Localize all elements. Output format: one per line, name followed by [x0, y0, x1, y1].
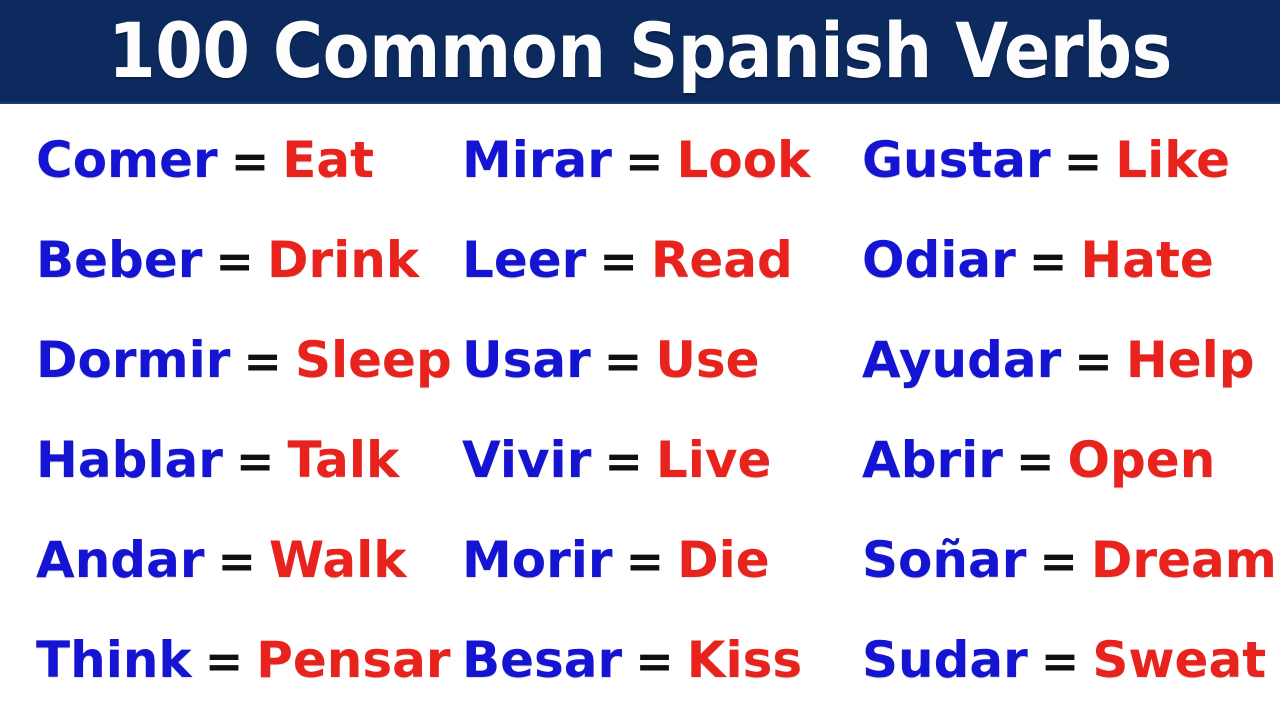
equals-sign: =	[625, 133, 664, 189]
verb-pair: Gustar = Like	[840, 132, 1280, 189]
spanish-term: Andar	[36, 532, 204, 588]
equals-sign: =	[626, 533, 665, 589]
spanish-term: Sudar	[862, 632, 1028, 688]
equals-sign: =	[205, 633, 244, 689]
page-title: 100 Common Spanish Verbs	[108, 11, 1172, 91]
spanish-term: Besar	[462, 632, 622, 688]
equals-sign: =	[1029, 233, 1068, 289]
english-gloss: Sleep	[295, 332, 452, 388]
english-gloss: Use	[655, 332, 759, 388]
spanish-term: Mirar	[462, 132, 612, 188]
english-gloss: Live	[656, 432, 772, 488]
verb-pair: Sudar = Sweat	[840, 632, 1280, 689]
spanish-term: Usar	[462, 332, 591, 388]
spanish-term: Gustar	[862, 132, 1051, 188]
english-gloss: Dream	[1091, 532, 1277, 588]
page-header: 100 Common Spanish Verbs	[0, 0, 1280, 104]
equals-sign: =	[236, 433, 275, 489]
verb-pair: Besar = Kiss	[440, 632, 840, 689]
verb-pair: Abrir = Open	[840, 432, 1280, 489]
equals-sign: =	[215, 233, 254, 289]
verb-pair: Mirar = Look	[440, 132, 840, 189]
verb-pair: Usar = Use	[440, 332, 840, 389]
english-gloss: Walk	[269, 532, 407, 588]
spanish-term: Soñar	[862, 532, 1026, 588]
equals-sign: =	[1041, 633, 1080, 689]
spanish-term: Ayudar	[862, 332, 1061, 388]
spanish-term: Dormir	[36, 332, 230, 388]
spanish-term: Beber	[36, 232, 202, 288]
english-gloss: Read	[651, 232, 793, 288]
spanish-term: Hablar	[36, 432, 223, 488]
english-gloss: Die	[677, 532, 770, 588]
equals-sign: =	[635, 633, 674, 689]
english-gloss: Pensar	[256, 632, 450, 688]
verb-pair: Morir = Die	[440, 532, 840, 589]
verb-pair: Vivir = Live	[440, 432, 840, 489]
equals-sign: =	[217, 533, 256, 589]
equals-sign: =	[1064, 133, 1103, 189]
english-gloss: Like	[1115, 132, 1230, 188]
english-gloss: Sweat	[1092, 632, 1266, 688]
equals-sign: =	[599, 233, 638, 289]
spanish-term: Abrir	[862, 432, 1003, 488]
spanish-term: Vivir	[462, 432, 591, 488]
english-gloss: Hate	[1080, 232, 1213, 288]
equals-sign: =	[604, 333, 643, 389]
english-gloss: Open	[1068, 432, 1216, 488]
english-gloss: Kiss	[687, 632, 802, 688]
english-gloss: Talk	[287, 432, 399, 488]
verb-pair: Comer = Eat	[0, 132, 440, 189]
spanish-term: Comer	[36, 132, 218, 188]
english-gloss: Drink	[267, 232, 419, 288]
spanish-verbs-poster: 100 Common Spanish Verbs Comer = Eat Mir…	[0, 0, 1280, 720]
verb-pair: Odiar = Hate	[840, 232, 1280, 289]
equals-sign: =	[231, 133, 270, 189]
verb-pair: Andar = Walk	[0, 532, 440, 589]
english-gloss: Help	[1126, 332, 1255, 388]
verb-pair: Hablar = Talk	[0, 432, 440, 489]
verb-grid: Comer = Eat Mirar = Look Gustar = Like B…	[0, 104, 1280, 720]
verb-pair: Leer = Read	[440, 232, 840, 289]
verb-pair: Beber = Drink	[0, 232, 440, 289]
spanish-term: Morir	[462, 532, 613, 588]
verb-pair: Soñar = Dream	[840, 532, 1280, 589]
equals-sign: =	[1039, 533, 1078, 589]
equals-sign: =	[1016, 433, 1055, 489]
english-gloss: Look	[677, 132, 811, 188]
equals-sign: =	[1074, 333, 1113, 389]
verb-pair: Dormir = Sleep	[0, 332, 440, 389]
equals-sign: =	[243, 333, 282, 389]
spanish-term: Odiar	[862, 232, 1016, 288]
equals-sign: =	[604, 433, 643, 489]
spanish-term: Think	[36, 632, 192, 688]
verb-pair: Ayudar = Help	[840, 332, 1280, 389]
verb-pair: Think = Pensar	[0, 632, 440, 689]
spanish-term: Leer	[462, 232, 586, 288]
english-gloss: Eat	[282, 132, 374, 188]
